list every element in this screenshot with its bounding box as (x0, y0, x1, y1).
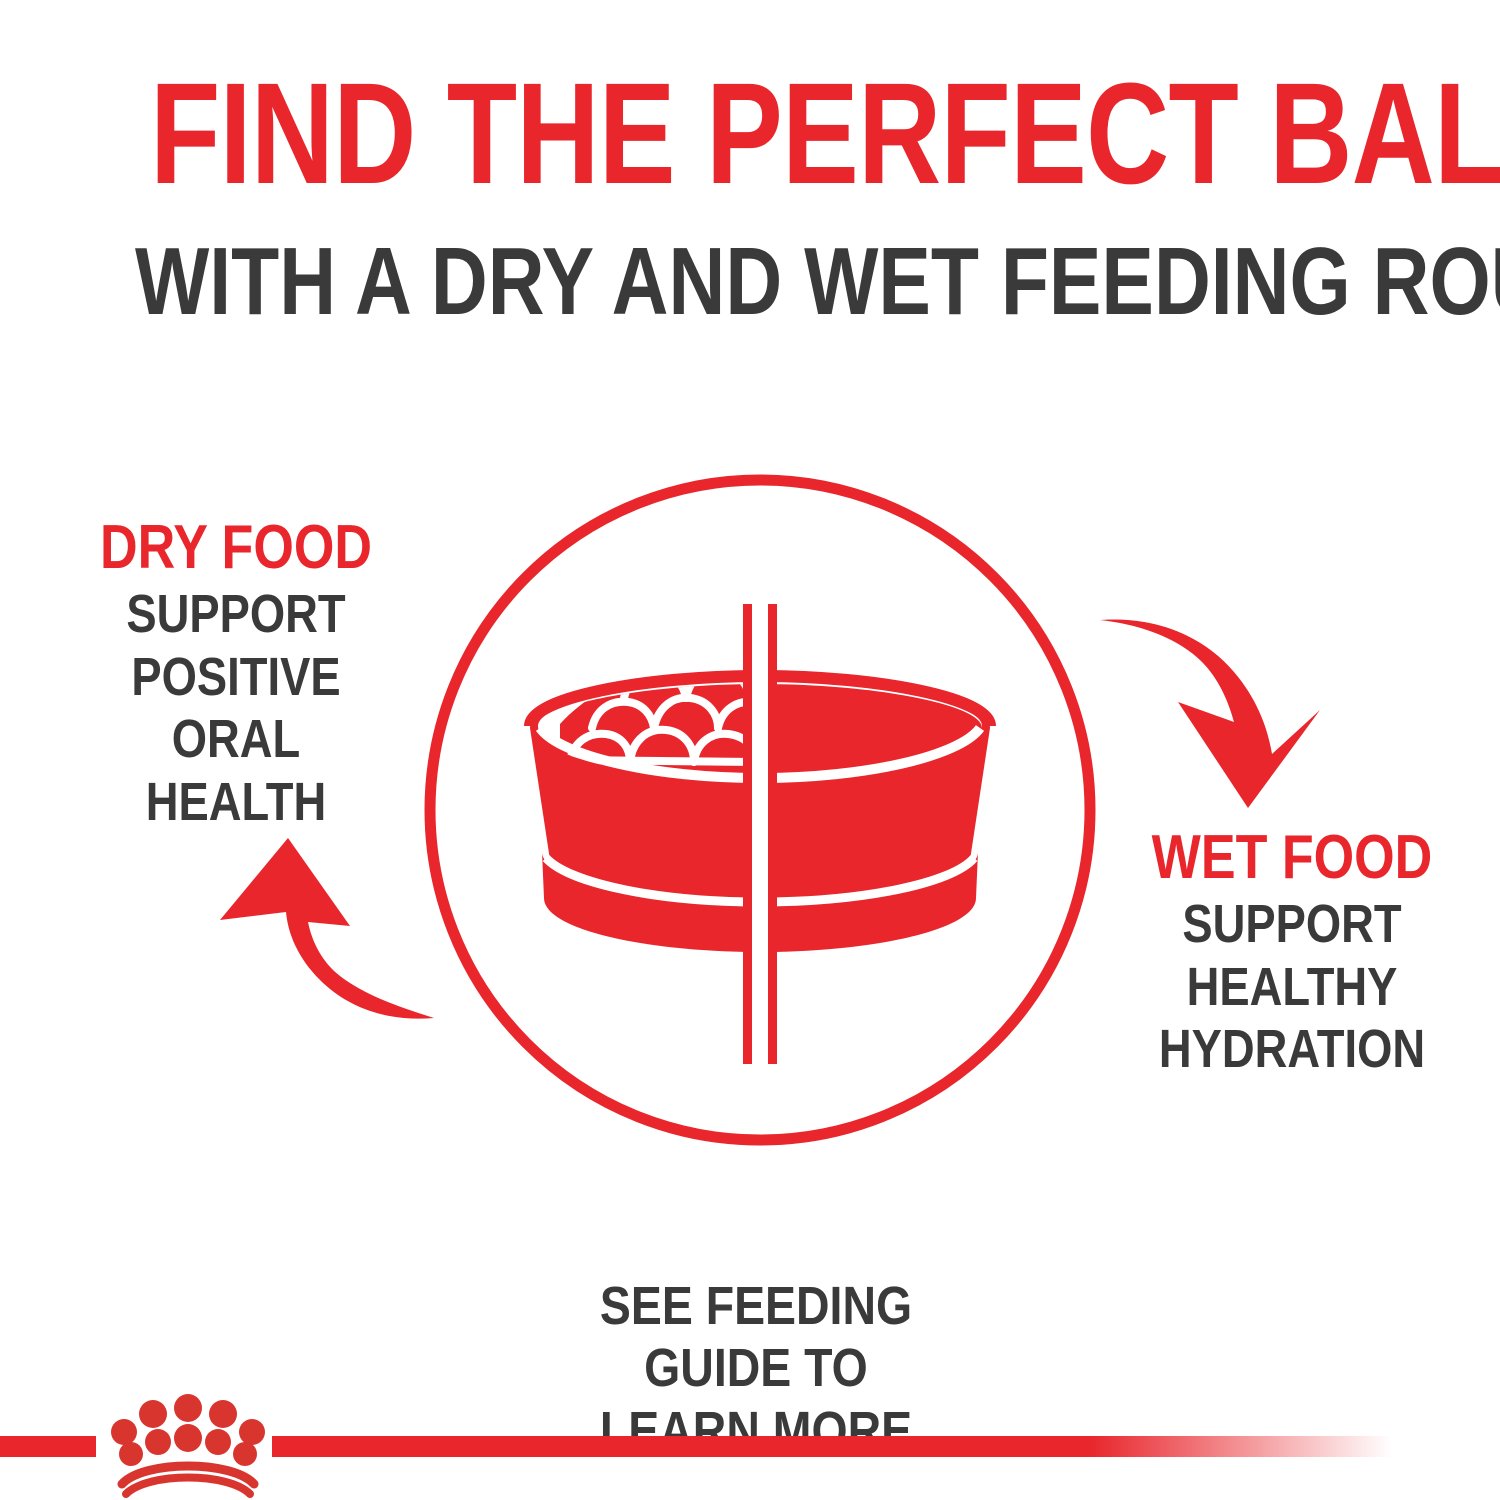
dry-food-panel: DRY FOOD SUPPORT POSITIVE ORAL HEALTH (36, 516, 436, 834)
royal-canin-crown-icon (100, 1388, 276, 1500)
split-pet-food-bowl-icon (410, 460, 1110, 1160)
dry-food-title: DRY FOOD (68, 516, 404, 579)
divider-line-right (768, 604, 777, 1064)
divider-line-left (743, 604, 752, 1064)
header-block: FIND THE PERFECT BALANCE WITH A DRY AND … (0, 62, 1500, 330)
brand-bar-right (272, 1436, 1392, 1457)
wet-food-panel: WET FOOD SUPPORT HEALTHY HYDRATION (1092, 826, 1492, 1081)
wet-food-description: SUPPORT HEALTHY HYDRATION (1124, 893, 1460, 1081)
page-subtitle: WITH A DRY AND WET FEEDING ROUTINE (135, 234, 1365, 330)
curved-arrow-down-right-icon (1098, 596, 1398, 846)
brand-footer (0, 1400, 1500, 1500)
brand-bar-left (0, 1436, 96, 1457)
dry-food-description: SUPPORT POSITIVE ORAL HEALTH (68, 583, 404, 834)
page-title: FIND THE PERFECT BALANCE (150, 62, 1350, 206)
infographic-page: FIND THE PERFECT BALANCE WITH A DRY AND … (0, 0, 1500, 1500)
